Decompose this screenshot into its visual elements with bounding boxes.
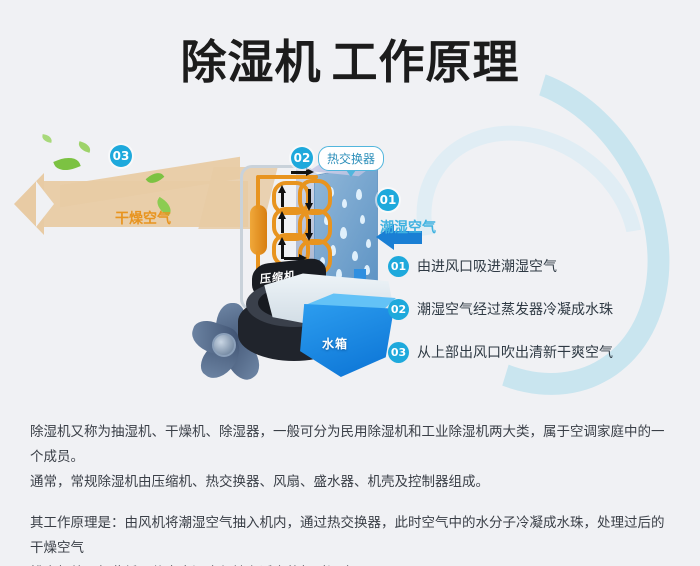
flow-arrow-down-icon — [305, 203, 313, 211]
dry-air-arrow-notch — [36, 181, 54, 227]
page-title: 除湿机工作原理 — [0, 34, 700, 90]
infographic-page: 除湿机工作原理 03 干燥空气 — [0, 0, 700, 566]
leaf-icon — [53, 153, 80, 175]
badge-03-diagram: 03 — [110, 145, 132, 167]
flow-arrow-stem — [291, 171, 307, 174]
flow-arrow-up-icon — [278, 185, 286, 193]
water-droplet-icon — [366, 239, 371, 248]
legend-list: 01 由进风口吸进潮湿空气 02 潮湿空气经过蒸发器冷凝成水珠 03 从上部出风… — [388, 256, 668, 385]
flow-arrow-right-icon — [306, 168, 314, 176]
paragraph-1-line-1: 除湿机又称为抽湿机、干燥机、除湿器，一般可分为民用除湿机和工业除湿机两大类，属于… — [30, 420, 674, 470]
label-water-tank: 水箱 — [322, 335, 348, 352]
label-humid-air: 潮湿空气 — [380, 217, 436, 237]
flow-arrow-stem — [281, 219, 284, 233]
paragraph-2-line-1: 其工作原理是：由风机将潮湿空气抽入机内，通过热交换器，此时空气中的水分子冷凝成水… — [30, 511, 674, 561]
callout-heat-exchanger: 热交换器 — [318, 146, 384, 171]
badge-01-diagram: 01 — [377, 189, 399, 211]
accumulator-icon — [250, 205, 267, 255]
fan-hub-icon — [212, 333, 236, 357]
flow-arrow-stem — [281, 193, 284, 207]
legend-item-01: 01 由进风口吸进潮湿空气 — [388, 256, 668, 277]
legend-item-02: 02 潮湿空气经过蒸发器冷凝成水珠 — [388, 299, 668, 320]
legend-text-02: 潮湿空气经过蒸发器冷凝成水珠 — [417, 301, 613, 319]
body-copy: 除湿机又称为抽湿机、干燥机、除湿器，一般可分为民用除湿机和工业除湿机两大类，属于… — [30, 420, 674, 566]
flow-arrow-up-icon — [278, 211, 286, 219]
water-droplet-icon — [340, 227, 347, 239]
flow-arrow-down-icon — [305, 233, 313, 241]
water-droplet-icon — [360, 215, 365, 224]
legend-item-03: 03 从上部出风口吹出清新干爽空气 — [388, 342, 668, 363]
paragraph-1-line-2: 通常，常规除湿机由压缩机、热交换器、风扇、盛水器、机壳及控制器组成。 — [30, 470, 674, 495]
refrigerant-pipe — [256, 175, 260, 209]
flow-arrow-stem — [308, 219, 311, 233]
flow-arrow-stem — [308, 189, 311, 203]
badge-01: 01 — [388, 256, 409, 277]
badge-02: 02 — [388, 299, 409, 320]
paragraph-2-line-2: 排出机外，如此循环使室内湿度保持在适宜的相对湿度。 — [30, 561, 674, 566]
leaf-icon — [41, 134, 52, 143]
legend-text-03: 从上部出风口吹出清新干爽空气 — [417, 344, 613, 362]
badge-02-diagram: 02 — [291, 147, 313, 169]
water-droplet-icon — [356, 189, 362, 200]
flow-arrow-up-icon — [278, 237, 286, 245]
water-droplet-icon — [342, 199, 347, 208]
leaf-icon — [77, 141, 92, 153]
paragraph-2: 其工作原理是：由风机将潮湿空气抽入机内，通过热交换器，此时空气中的水分子冷凝成水… — [30, 511, 674, 566]
title-part-1: 除湿机 — [181, 35, 322, 89]
paragraph-1: 除湿机又称为抽湿机、干燥机、除湿器，一般可分为民用除湿机和工业除湿机两大类，属于… — [30, 420, 674, 495]
water-droplet-icon — [352, 251, 358, 261]
legend-text-01: 由进风口吸进潮湿空气 — [417, 258, 557, 276]
label-dry-air: 干燥空气 — [115, 208, 171, 228]
badge-03: 03 — [388, 342, 409, 363]
